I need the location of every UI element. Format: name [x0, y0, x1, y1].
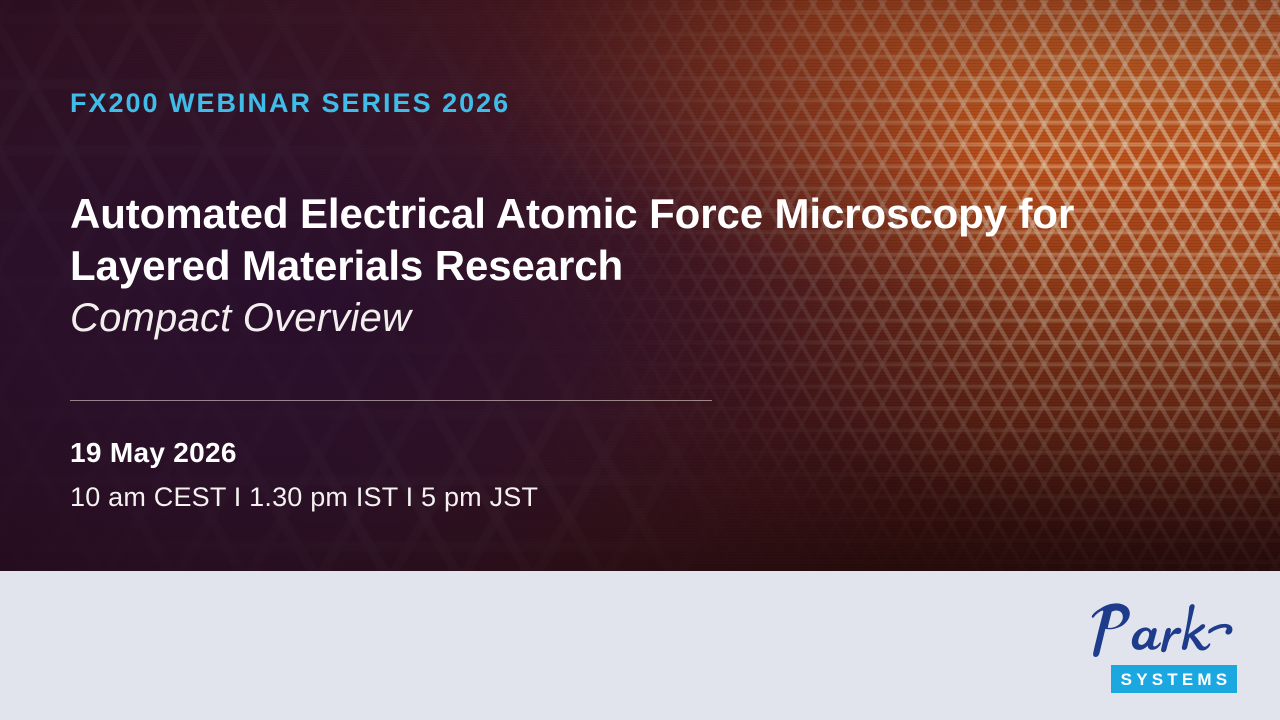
webinar-series-eyebrow: FX200 WEBINAR SERIES 2026 [70, 88, 510, 119]
hero-section: FX200 WEBINAR SERIES 2026 Automated Elec… [0, 0, 1280, 571]
page-subtitle: Compact Overview [70, 294, 411, 342]
systems-badge: SYSTEMS [1111, 665, 1237, 693]
webinar-date: 19 May 2026 [70, 437, 237, 469]
webinar-banner: FX200 WEBINAR SERIES 2026 Automated Elec… [0, 0, 1280, 720]
hero-copy-block: FX200 WEBINAR SERIES 2026 Automated Elec… [70, 0, 1170, 571]
divider-rule [70, 400, 712, 401]
footer-bar: SYSTEMS [0, 571, 1280, 720]
page-title: Automated Electrical Atomic Force Micros… [70, 188, 1150, 292]
systems-label: SYSTEMS [1117, 671, 1232, 688]
webinar-timezones: 10 am CEST I 1.30 pm IST I 5 pm JST [70, 482, 538, 513]
park-wordmark-icon [1080, 599, 1237, 663]
park-systems-logo: SYSTEMS [1080, 599, 1237, 693]
